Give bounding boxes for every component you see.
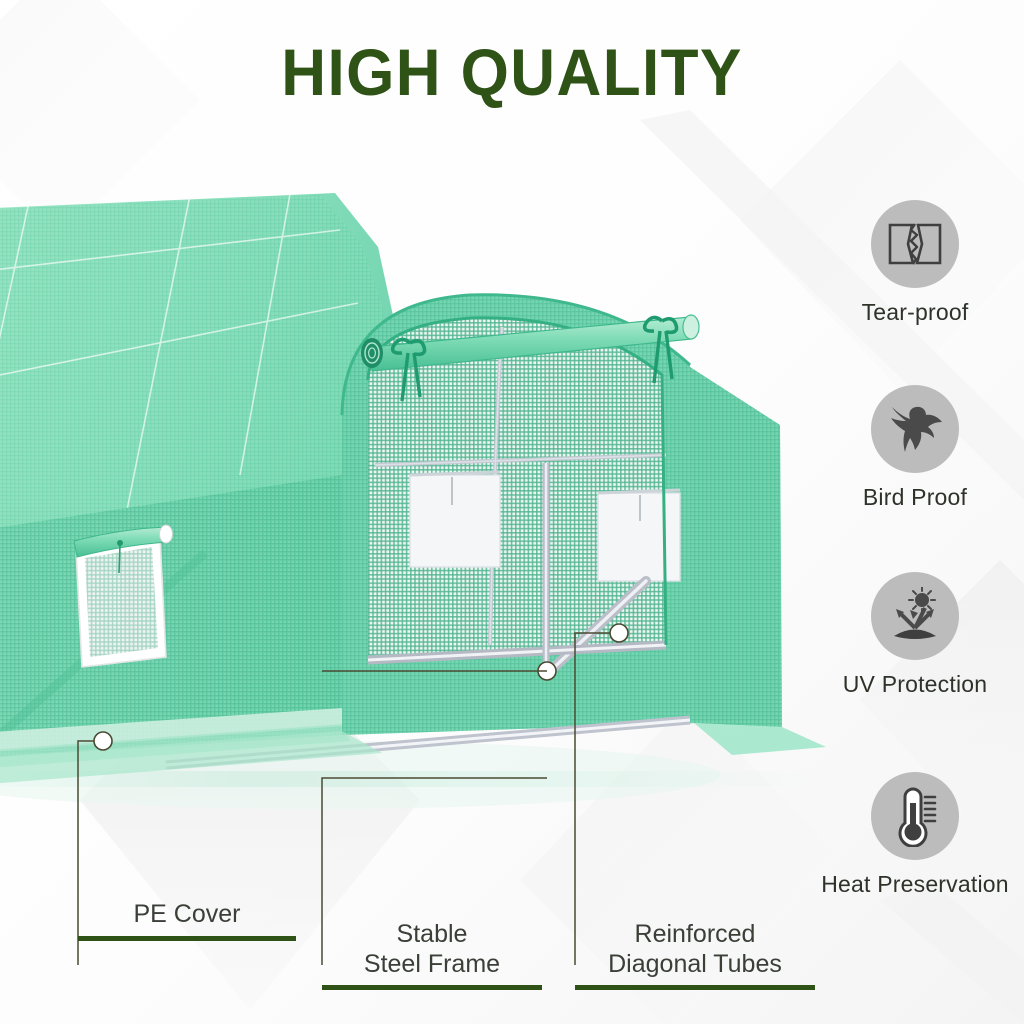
callout-underline (78, 936, 296, 941)
callout-label-line1: Stable (322, 920, 542, 950)
callout-steel-frame: Stable Steel Frame (322, 920, 542, 990)
callout-dot (94, 624, 628, 750)
callout-underline (575, 985, 815, 990)
feature-bird-proof: Bird Proof (800, 385, 1024, 511)
feature-heat-preservation: Heat Preservation (800, 772, 1024, 898)
bird-icon (884, 401, 946, 457)
tear-proof-icon (886, 219, 944, 269)
feature-icon-badge (871, 772, 959, 860)
feature-label: Heat Preservation (800, 871, 1024, 898)
callout-label-line2: Steel Frame (322, 950, 542, 980)
feature-uv-protection: UV Protection (800, 572, 1024, 698)
feature-label: Bird Proof (800, 484, 1024, 511)
callout-underline (322, 985, 542, 990)
feature-icon-badge (871, 572, 959, 660)
infographic-canvas: HIGH QUALITY (0, 0, 1024, 1024)
feature-icon-badge (871, 200, 959, 288)
thermometer-icon (887, 785, 943, 847)
feature-label: UV Protection (800, 671, 1024, 698)
feature-icon-badge (871, 385, 959, 473)
callout-pe-cover: PE Cover (78, 900, 296, 941)
callout-label: PE Cover (78, 900, 296, 930)
uv-protection-icon (884, 587, 946, 645)
callout-diagonal-tubes: Reinforced Diagonal Tubes (575, 920, 815, 990)
feature-label: Tear-proof (800, 299, 1024, 326)
feature-tear-proof: Tear-proof (800, 200, 1024, 326)
callout-label-line2: Diagonal Tubes (575, 950, 815, 980)
callout-label-line1: Reinforced (575, 920, 815, 950)
